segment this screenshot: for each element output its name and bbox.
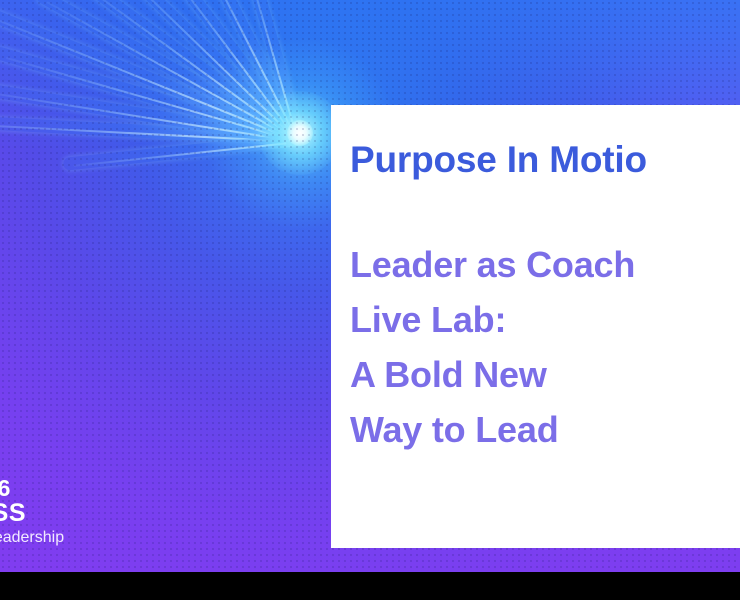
glow-core [287, 120, 313, 146]
subtitle-line: Leader as Coach [350, 237, 740, 292]
subtitle-line: Way to Lead [350, 402, 740, 457]
slide-subtitle-block: Leader as Coach Live Lab: A Bold New Way… [350, 237, 740, 457]
logo-year-line: E 2026 [0, 476, 166, 500]
slide-title: Purpose In Motio [350, 138, 740, 182]
logo-congress-line: GRESS [0, 500, 166, 526]
content-panel-inner: Purpose In Motio Leader as Coach Live La… [350, 138, 740, 457]
logo-tagline: thcare Leadership [0, 528, 166, 547]
congress-logo-lockup: E 2026 GRESS thcare Leadership [0, 476, 166, 547]
subtitle-line: A Bold New [350, 347, 740, 402]
content-panel: Purpose In Motio Leader as Coach Live La… [331, 105, 740, 548]
subtitle-line: Live Lab: [350, 292, 740, 347]
bottom-letterbox-bar [0, 572, 740, 600]
presentation-slide: E 2026 GRESS thcare Leadership Purpose I… [0, 0, 740, 600]
